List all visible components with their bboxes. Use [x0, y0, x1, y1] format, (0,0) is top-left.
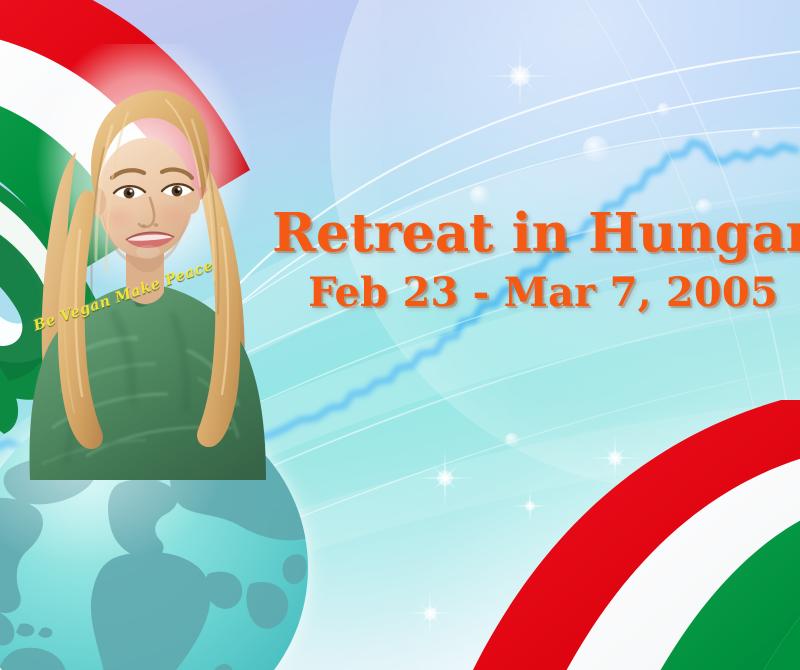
poster-canvas: Be Vegan Make Peace Retreat in Hungary F…	[0, 0, 800, 670]
portrait-woman: Be Vegan Make Peace	[16, 60, 284, 480]
poster-title: Retreat in Hungary	[272, 206, 784, 260]
poster-subtitle: Feb 23 - Mar 7, 2005	[272, 269, 784, 316]
flag-ribbon-bottom-right	[470, 384, 800, 670]
title-block: Retreat in Hungary Feb 23 - Mar 7, 2005	[272, 206, 784, 316]
